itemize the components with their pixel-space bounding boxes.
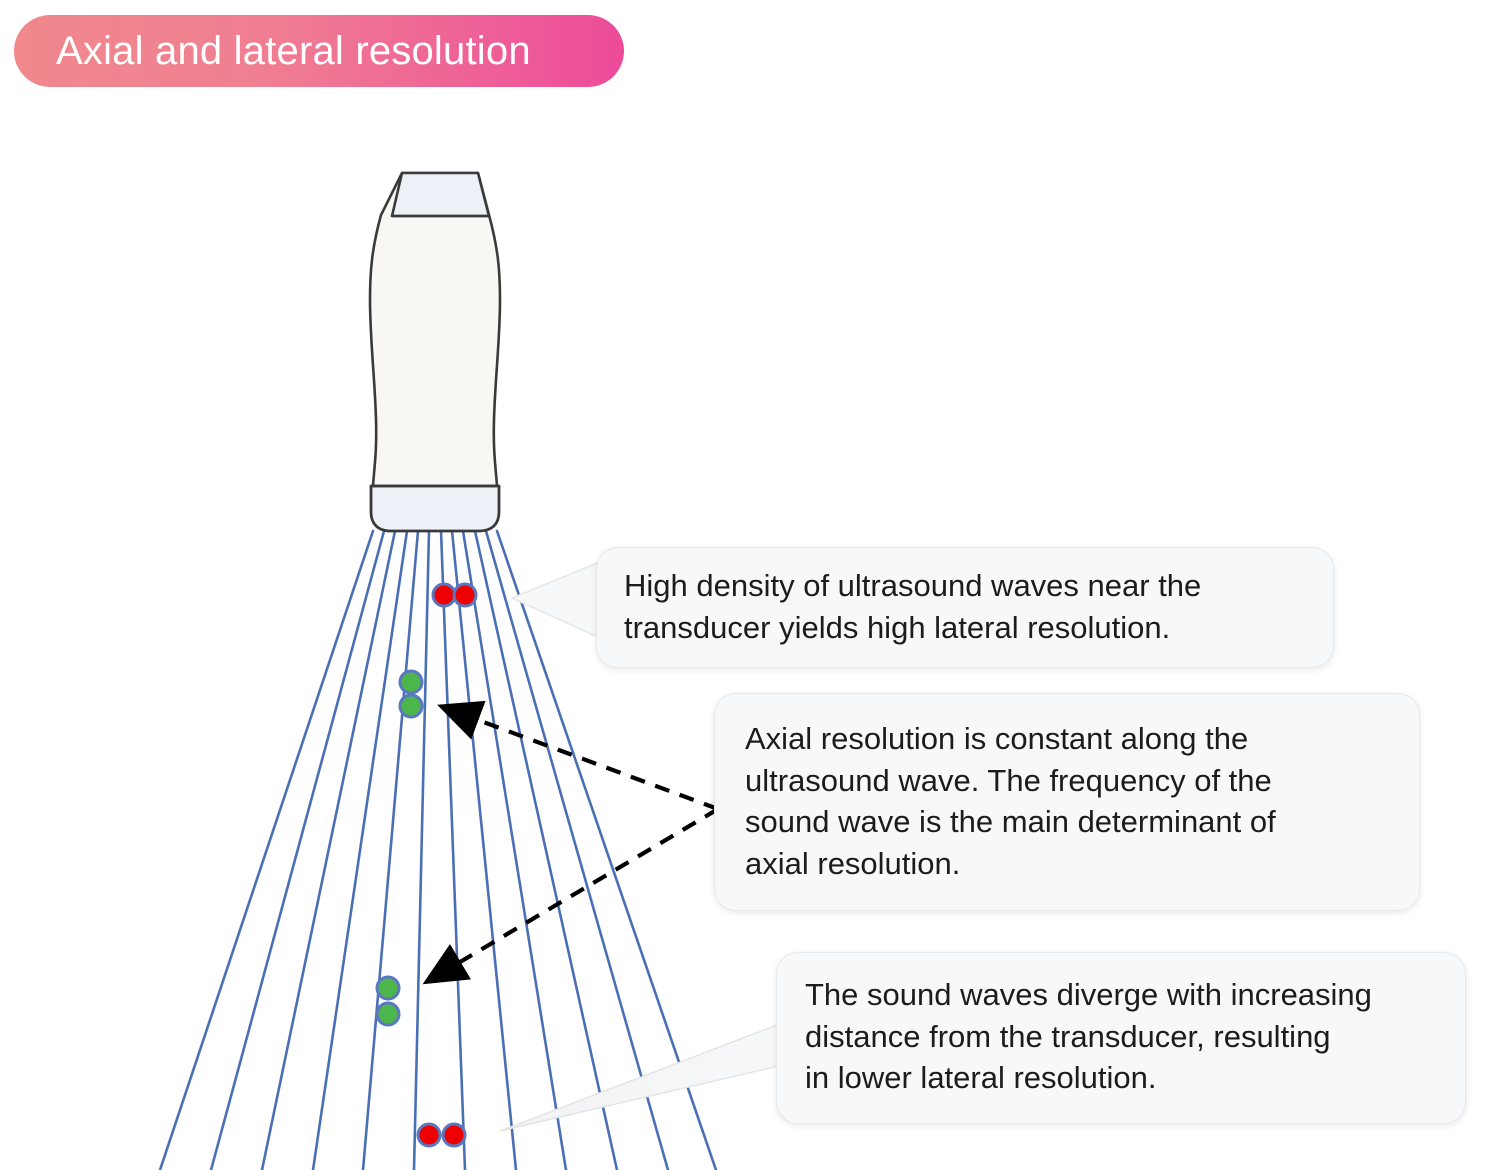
callout-axial-resolution: Axial resolution is constant along the u… (714, 693, 1420, 911)
beam-line (414, 531, 429, 1170)
beam-line (160, 531, 373, 1170)
axial-near-dot (400, 671, 422, 693)
axial-far-dot (377, 977, 399, 999)
lateral-far-dot (443, 1124, 465, 1146)
lateral-far-dot (418, 1124, 440, 1146)
callout-lateral-resolution-near: High density of ultrasound waves near th… (596, 547, 1334, 668)
transducer-top-cap (392, 173, 489, 216)
axial-far-dot (377, 1003, 399, 1025)
beam-line (363, 531, 418, 1170)
callout-lateral-resolution-near-text: High density of ultrasound waves near th… (624, 565, 1307, 648)
callout-lateral-resolution-far-text: The sound waves diverge with increasing … (805, 974, 1439, 1099)
lateral-near-dot (454, 584, 476, 606)
lateral-near-dot (433, 584, 455, 606)
callout-lateral-resolution-far: The sound waves diverge with increasing … (776, 952, 1466, 1124)
axial-near-dot (400, 695, 422, 717)
axial-upper-dashed-arrow (443, 707, 718, 809)
transducer-foot (371, 486, 499, 531)
beam-line (262, 531, 395, 1170)
ultrasound-transducer-probe (370, 173, 500, 531)
callout-axial-resolution-text: Axial resolution is constant along the u… (745, 718, 1393, 884)
callout-lateral-near-tail (512, 562, 600, 638)
beam-line (313, 531, 407, 1170)
axial-resolution-connectors (428, 707, 718, 981)
transducer-body (370, 173, 500, 486)
beam-line (211, 531, 384, 1170)
